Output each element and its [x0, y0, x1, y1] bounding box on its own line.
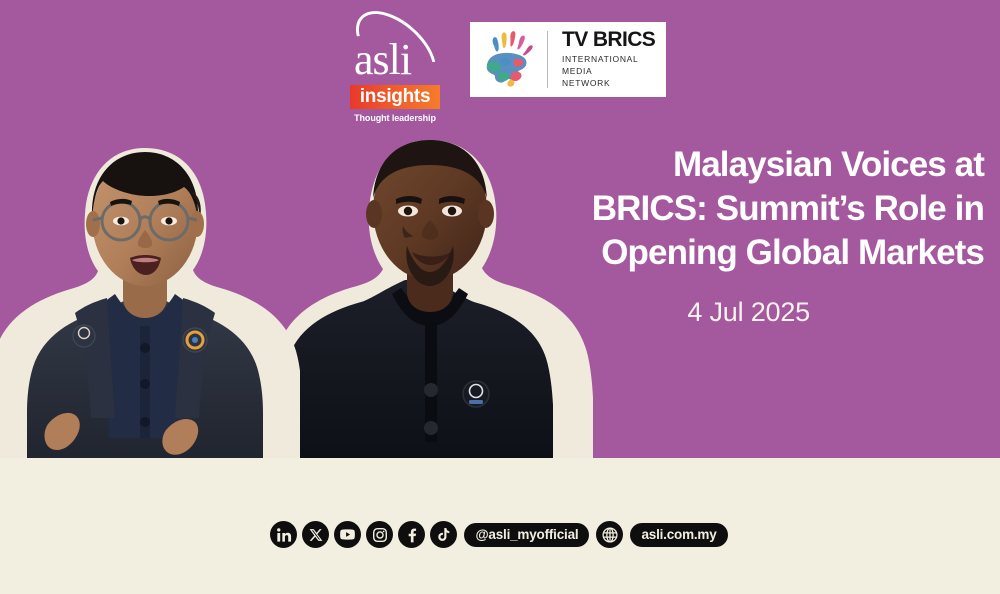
x-twitter-icon[interactable]	[302, 521, 329, 548]
asli-tagline: Thought leadership	[350, 113, 440, 123]
tvbrics-sub-line1: INTERNATIONAL	[562, 54, 655, 66]
instagram-handle-pill[interactable]: @asli_myofficial	[464, 523, 589, 547]
handprint-icon	[482, 31, 538, 89]
poster-canvas: asli insights Thought leadership	[0, 0, 1000, 594]
website-pill[interactable]: asli.com.my	[630, 523, 727, 547]
linkedin-icon[interactable]	[270, 521, 297, 548]
footer-bar: @asli_myofficial asli.com.my	[0, 458, 1000, 594]
tvbrics-title: TV BRICS	[562, 29, 655, 50]
tiktok-icon[interactable]	[430, 521, 457, 548]
speaker-photo-left	[0, 140, 300, 458]
logo-row: asli insights Thought leadership	[350, 22, 666, 123]
globe-icon[interactable]	[596, 521, 623, 548]
asli-insights-badge: insights	[350, 85, 440, 109]
tvbrics-logo: TV BRICS INTERNATIONAL MEDIA NETWORK	[470, 22, 666, 97]
instagram-icon[interactable]	[366, 521, 393, 548]
facebook-icon[interactable]	[398, 521, 425, 548]
event-date: 4 Jul 2025	[687, 299, 810, 326]
tvbrics-sub-line2: MEDIA	[562, 66, 655, 78]
asli-wordmark: asli	[350, 26, 446, 82]
tvbrics-sub-line3: NETWORK	[562, 78, 655, 90]
hero-banner: asli insights Thought leadership	[0, 0, 1000, 458]
logo-divider	[547, 31, 548, 88]
asli-insights-logo: asli insights Thought leadership	[350, 22, 446, 123]
speaker-photo-right	[255, 128, 605, 458]
social-links: @asli_myofficial asli.com.my	[0, 521, 1000, 548]
youtube-icon[interactable]	[334, 521, 361, 548]
